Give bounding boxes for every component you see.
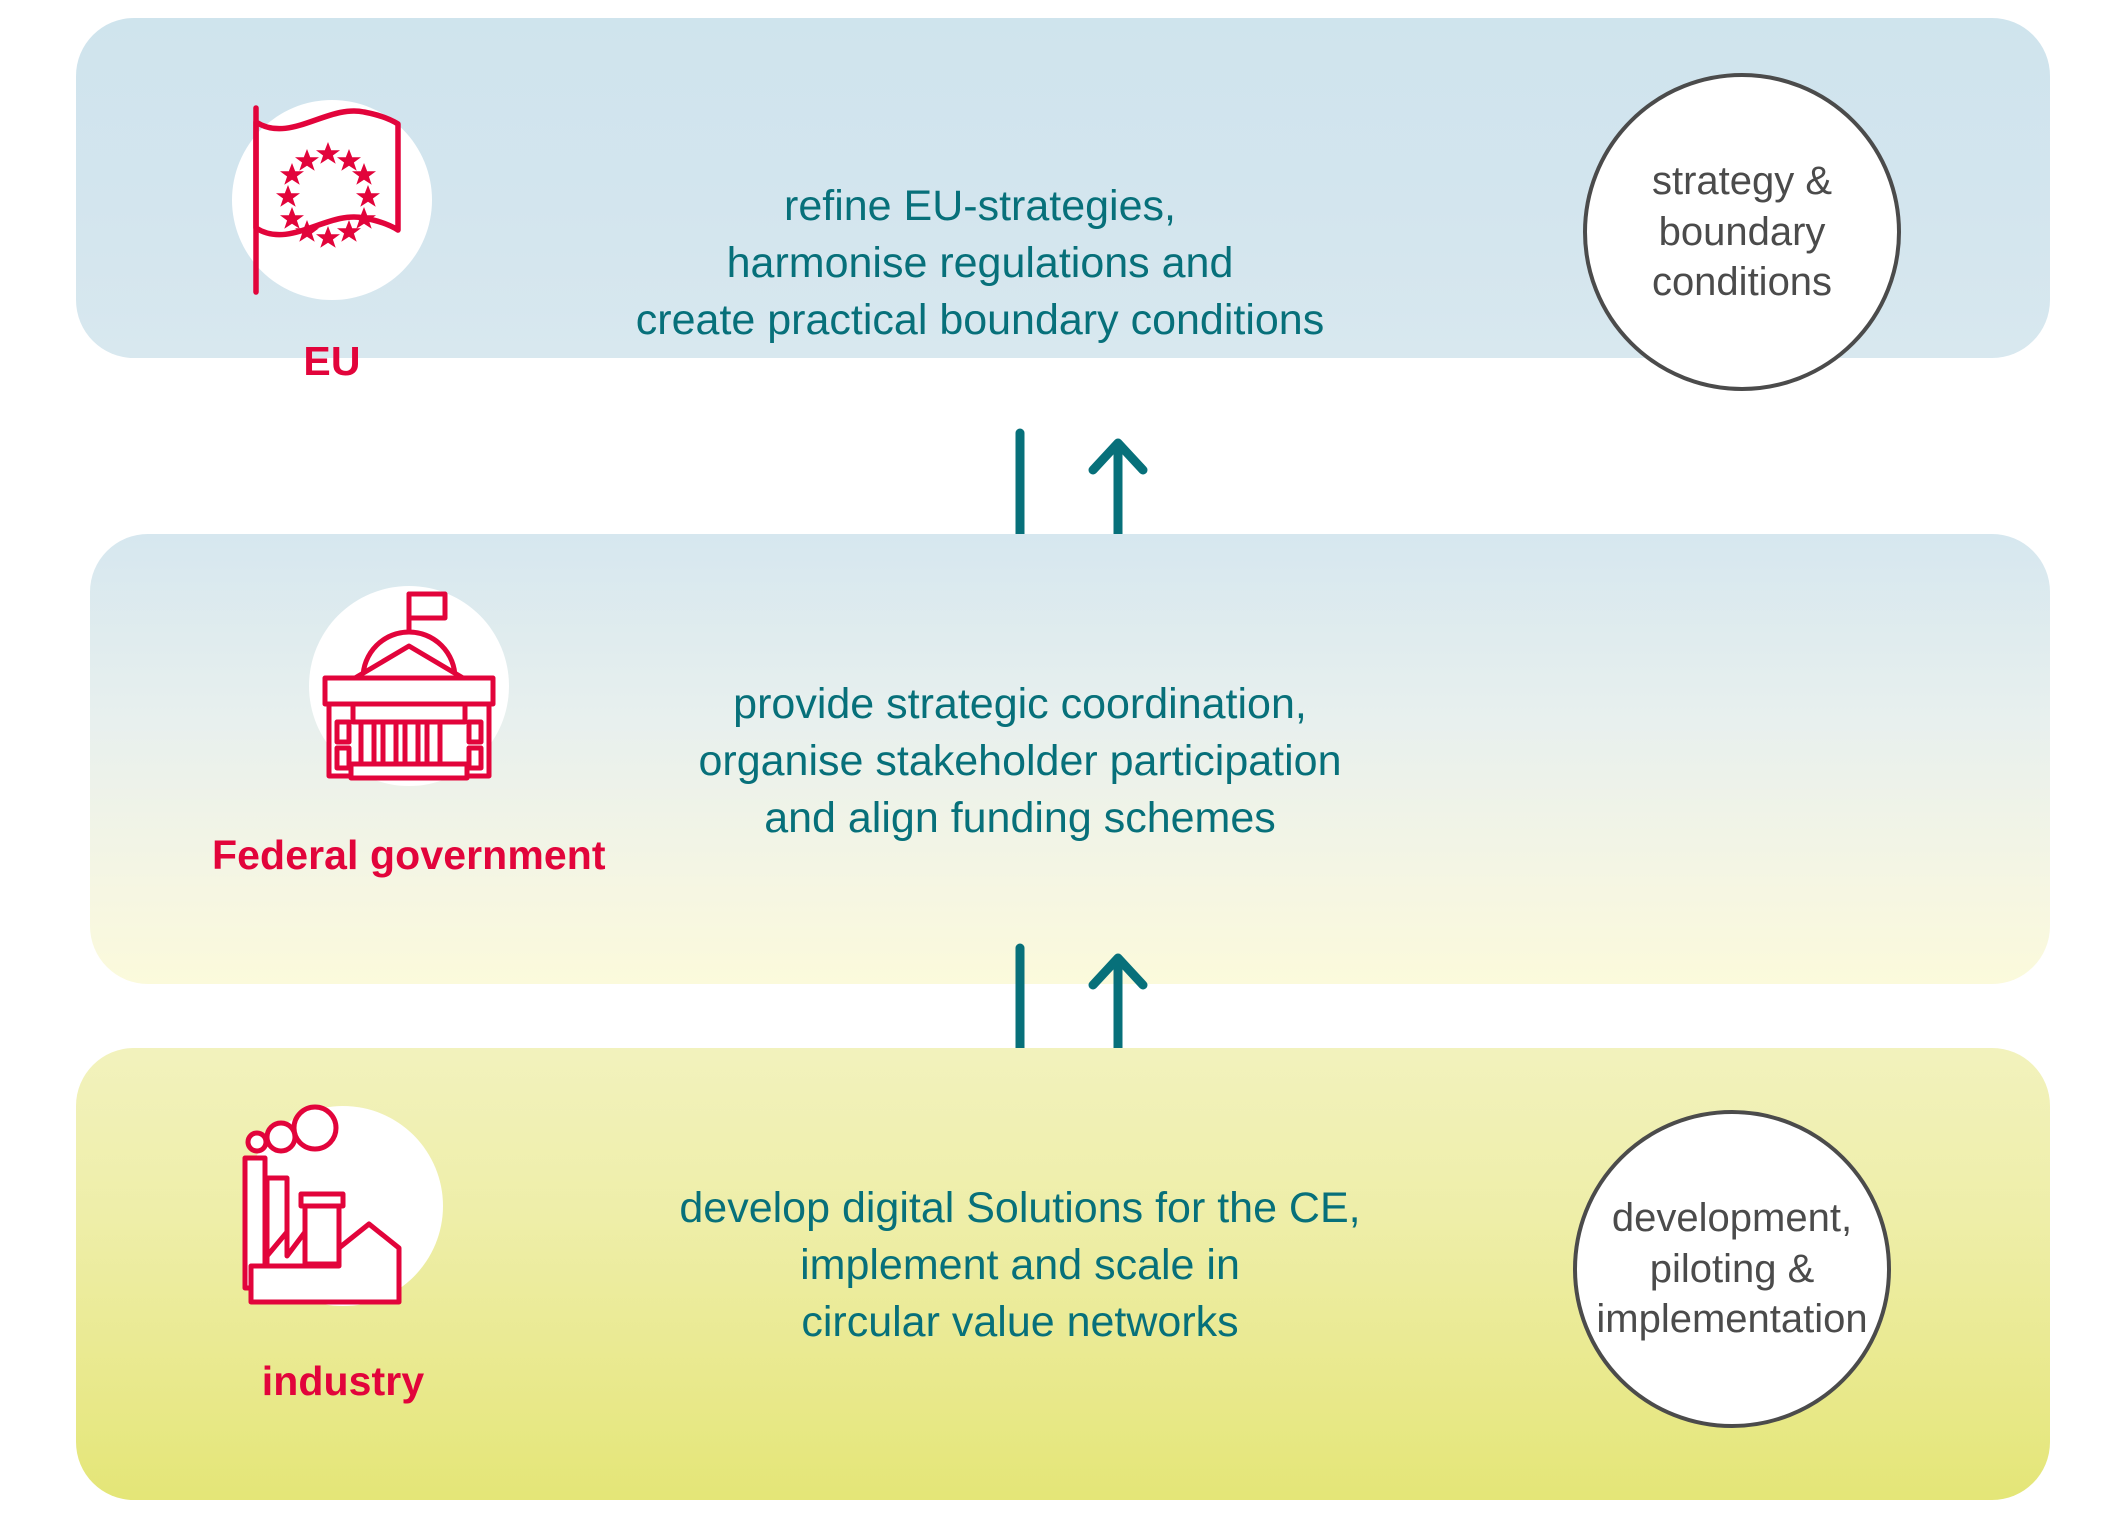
government-building-glyph (309, 586, 509, 786)
eu-flag-icon (232, 100, 432, 300)
level-description-federal-government: provide strategic coordination, organise… (640, 676, 1400, 846)
government-building-icon (309, 586, 509, 786)
outcome-circle-eu: strategy & boundary conditions (1583, 73, 1901, 391)
eu-flag-glyph (232, 100, 432, 300)
stakeholder-levels-diagram: EU refine EU-strategies, harmonise regul… (0, 0, 2126, 1535)
level-label-industry: industry (262, 1358, 425, 1405)
level-eu-icon-block: EU (232, 100, 432, 385)
factory-icon (243, 1106, 443, 1306)
level-label-eu: EU (303, 338, 360, 385)
level-government-icon-block: Federal government (212, 586, 606, 879)
outcome-circle-industry: development, piloting & implementation (1573, 1110, 1891, 1428)
level-description-eu: refine EU-strategies, harmonise regulati… (600, 178, 1360, 348)
factory-glyph (243, 1106, 443, 1306)
level-industry-icon-block: industry (243, 1106, 443, 1405)
level-label-federal-government: Federal government (212, 832, 606, 879)
level-description-industry: develop digital Solutions for the CE, im… (640, 1180, 1400, 1350)
